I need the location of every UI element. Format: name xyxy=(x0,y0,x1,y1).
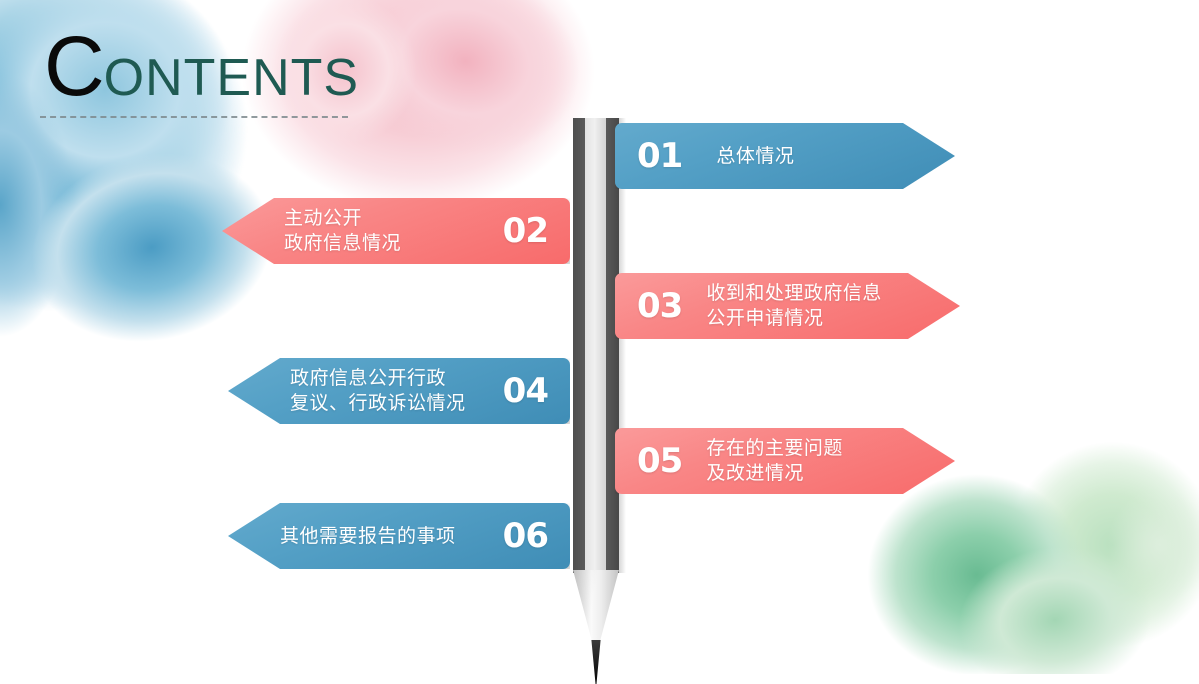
page-title-first-letter: C xyxy=(44,19,104,113)
item-label-01: 总体情况 xyxy=(716,144,794,169)
page-title-rest: ONTENTS xyxy=(104,49,359,107)
watercolor-splash-green-3 xyxy=(929,515,1182,674)
title-divider xyxy=(40,116,348,118)
item-number-05: 05 xyxy=(637,444,682,478)
item-number-01: 01 xyxy=(637,139,682,173)
contents-item-05[interactable]: 05 存在的主要问题 及改进情况 xyxy=(615,428,955,494)
pencil-body xyxy=(573,118,619,573)
item-label-05: 存在的主要问题 及改进情况 xyxy=(706,436,843,486)
item-label-06: 其他需要报告的事项 xyxy=(280,524,456,549)
watercolor-splash-green-pale xyxy=(1090,470,1199,620)
watercolor-splash-green-light xyxy=(1000,425,1199,674)
item-number-03: 03 xyxy=(637,289,682,323)
pencil-icon xyxy=(573,118,619,666)
pencil-wood-shading xyxy=(573,570,619,646)
contents-item-02[interactable]: 主动公开 政府信息情况 02 xyxy=(222,198,570,264)
contents-item-06[interactable]: 其他需要报告的事项 06 xyxy=(228,503,570,569)
contents-item-03[interactable]: 03 收到和处理政府信息 公开申请情况 xyxy=(615,273,960,339)
item-number-02: 02 xyxy=(503,214,548,248)
item-label-04: 政府信息公开行政 复议、行政诉讼情况 xyxy=(290,366,466,416)
item-label-03: 收到和处理政府信息 公开申请情况 xyxy=(706,281,882,331)
item-number-06: 06 xyxy=(503,519,548,553)
contents-item-01[interactable]: 01 总体情况 xyxy=(615,123,955,189)
page-title: CONTENTS xyxy=(44,24,359,108)
pencil-body-center-facet xyxy=(585,118,606,573)
item-label-02: 主动公开 政府信息情况 xyxy=(284,206,401,256)
pencil-body-left-facet xyxy=(573,118,585,573)
contents-item-04[interactable]: 政府信息公开行政 复议、行政诉讼情况 04 xyxy=(228,358,570,424)
item-number-04: 04 xyxy=(503,374,548,408)
pencil-graphite-tip xyxy=(573,640,619,684)
